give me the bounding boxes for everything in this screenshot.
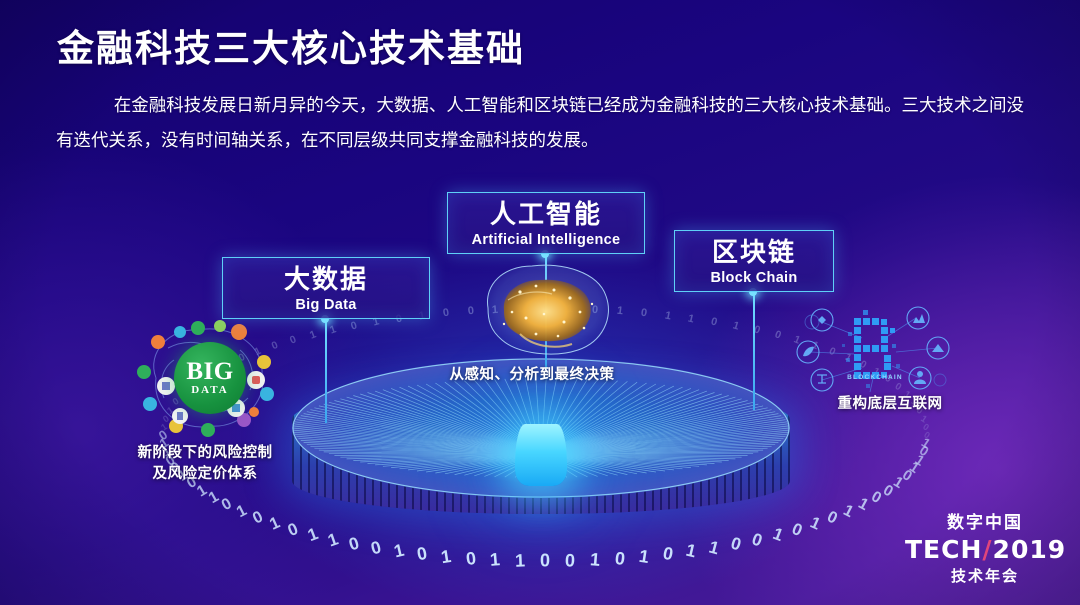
binary-digit: 0 [661, 543, 675, 565]
binary-digit: 1 [840, 502, 856, 522]
binary-digit: 1 [328, 324, 338, 337]
binary-digit: 0 [540, 551, 550, 572]
pillar-label-bigdata[interactable]: 大数据 Big Data [222, 257, 430, 319]
disc-core-glow [515, 424, 567, 486]
pillar-label-cn-ai: 人工智能 [448, 201, 644, 229]
binary-digit: 1 [807, 514, 823, 535]
bigdata-core-badge: BIG DATA [174, 342, 246, 414]
logo-tech-year: TECH/2019 [905, 535, 1065, 564]
pillar-label-cn-blockchain: 区块链 [675, 239, 833, 267]
logo-title-cn: 数字中国 [905, 508, 1065, 533]
connector-blockchain [753, 292, 755, 410]
binary-digit: 1 [392, 540, 406, 563]
binary-digit: 1 [731, 319, 740, 332]
logo-year: 2019 [993, 535, 1067, 564]
pillar-caption-bigdata: 新阶段下的风险控制 及风险定价体系 [96, 443, 314, 485]
logo-slash-icon: / [982, 535, 992, 564]
binary-digit: 1 [234, 502, 250, 522]
pillar-caption-ai: 从感知、分析到最终决策 [432, 365, 632, 386]
bigdata-word-big: BIG [186, 360, 233, 384]
slide-canvas: 金融科技三大核心技术基础 在金融科技发展日新月异的今天，大数据、人工智能和区块链… [0, 0, 1080, 605]
binary-digit: 0 [369, 537, 384, 560]
binary-digit: 0 [349, 319, 358, 332]
binary-digit: 0 [415, 543, 429, 565]
binary-digit: 1 [589, 549, 601, 571]
brain-icon [474, 256, 618, 361]
body-paragraph: 在金融科技发展日新月异的今天，大数据、人工智能和区块链已经成为金融科技的三大核心… [56, 88, 1024, 158]
brain-graphic [474, 256, 618, 361]
connector-bigdata [325, 319, 327, 423]
logo-tech-word: TECH [905, 535, 982, 564]
binary-digit: 1 [489, 549, 501, 571]
pillar-caption-bigdata-line1: 新阶段下的风险控制 [96, 443, 314, 464]
binary-digit: 1 [854, 495, 870, 515]
binary-digit: 1 [664, 309, 672, 322]
pillar-caption-bigdata-line2: 及风险定价体系 [96, 464, 314, 485]
logo-subtitle-cn: 技术年会 [905, 565, 1065, 586]
binary-digit: 0 [789, 519, 805, 541]
binary-digit: 0 [640, 307, 648, 320]
binary-digit: 1 [687, 312, 696, 325]
binary-digit: 0 [442, 307, 450, 320]
binary-digit: 0 [773, 328, 783, 341]
page-title: 金融科技三大核心技术基础 [57, 18, 525, 72]
binary-digit: 1 [707, 537, 722, 560]
pillar-label-en-ai: Artificial Intelligence [448, 232, 644, 248]
blockchain-wordmark: BLOCKCHAIN [836, 374, 914, 381]
bigdata-word-data: DATA [191, 384, 229, 396]
binary-digit: 0 [710, 315, 719, 328]
binary-digit: 1 [515, 550, 526, 571]
binary-digit: 1 [267, 514, 283, 535]
binary-digit: 0 [565, 550, 576, 571]
event-logo: 数字中国 TECH/2019 技术年会 [905, 508, 1065, 596]
bigdata-graphic: BIG DATA [136, 316, 281, 438]
pillar-label-cn-bigdata: 大数据 [223, 266, 429, 294]
binary-digit: 1 [637, 546, 650, 568]
binary-digit: 0 [250, 508, 266, 529]
binary-digit: 1 [206, 488, 222, 508]
pillar-caption-blockchain: 重构底层互联网 [800, 394, 980, 415]
binary-digit: 1 [440, 546, 453, 568]
pillar-label-en-blockchain: Block Chain [675, 270, 833, 286]
binary-digit: 0 [288, 334, 298, 347]
binary-digit: 0 [464, 548, 476, 570]
binary-digit: 1 [308, 328, 318, 341]
binary-digit: 0 [824, 508, 840, 529]
pillar-label-blockchain[interactable]: 区块链 Block Chain [674, 230, 834, 292]
pillar-label-en-bigdata: Big Data [223, 297, 429, 313]
pillar-label-ai[interactable]: 人工智能 Artificial Intelligence [447, 192, 645, 254]
blockchain-network-icon [792, 300, 954, 400]
binary-digit: 0 [613, 548, 625, 570]
binary-digit: 1 [684, 540, 698, 563]
blockchain-graphic: BLOCKCHAIN [792, 300, 954, 400]
